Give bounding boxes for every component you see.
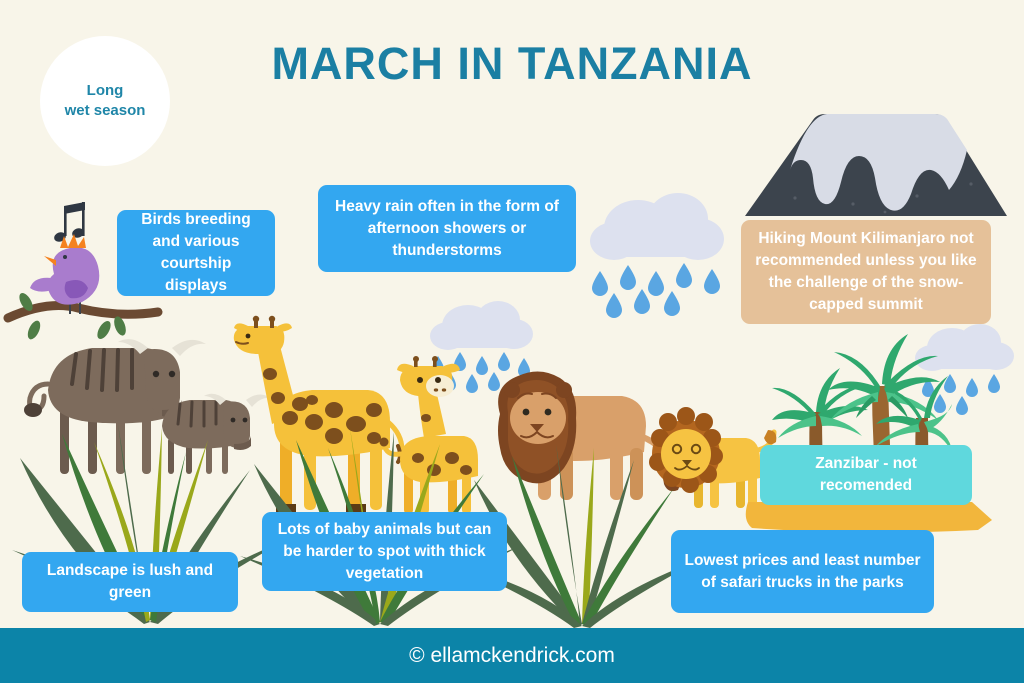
callout-birds-breeding: Birds breeding and various courtship dis… [117, 210, 275, 296]
callout-lowest-prices: Lowest prices and least number of safari… [671, 530, 934, 613]
callout-kilimanjaro: Hiking Mount Kilimanjaro not recommended… [741, 220, 991, 324]
page-title: MARCH IN TANZANIA [0, 38, 1024, 90]
music-note-icon [53, 202, 85, 243]
season-badge-line2: wet season [65, 101, 146, 121]
footer-credit: © ellamckendrick.com [409, 644, 615, 668]
infographic-canvas: Long wet season MARCH IN TANZANIA Birds … [0, 0, 1024, 683]
footer-bar: © ellamckendrick.com [0, 628, 1024, 683]
callout-heavy-rain: Heavy rain often in the form of afternoo… [318, 185, 576, 272]
rain-cloud [586, 185, 746, 315]
mount-kilimanjaro [735, 98, 1015, 218]
callout-zanzibar: Zanzibar - not recomended [760, 445, 972, 505]
callout-landscape: Landscape is lush and green [22, 552, 238, 612]
callout-baby-animals: Lots of baby animals but can be harder t… [262, 512, 507, 591]
